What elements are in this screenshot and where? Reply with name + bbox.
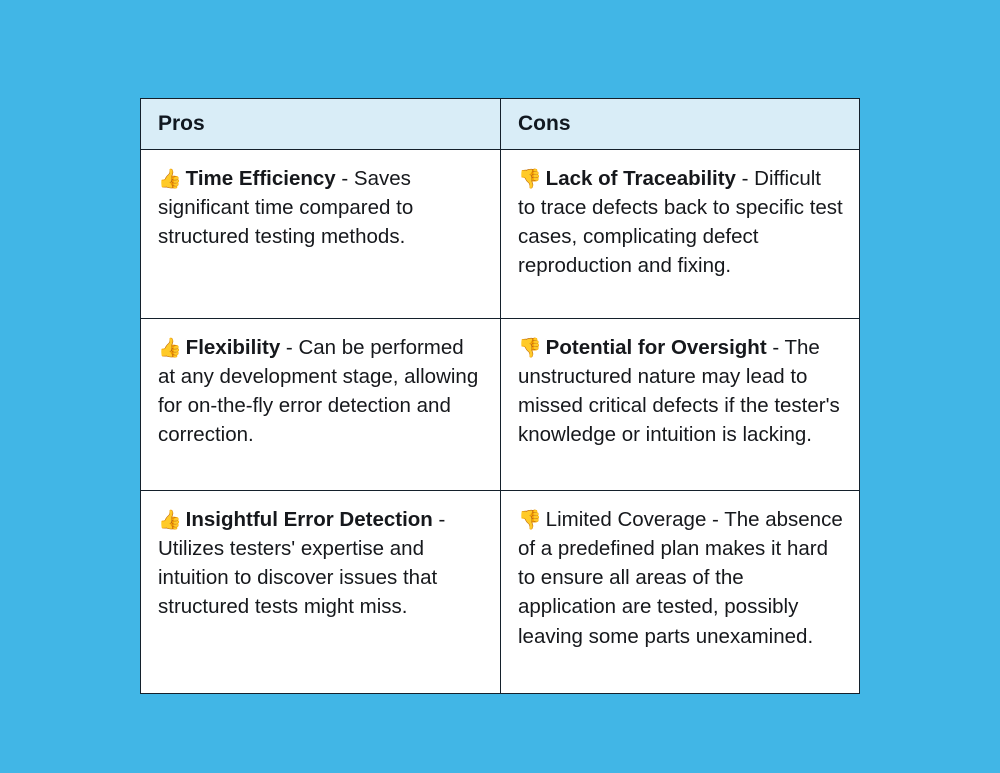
table-body: 👍Time Efficiency - Saves significant tim… (141, 150, 860, 694)
table-row: 👍Insightful Error Detection - Utilizes t… (141, 491, 860, 694)
thumbs-down-icon: 👎 (518, 168, 542, 190)
pro-title-2: Flexibility (186, 336, 281, 359)
page-root: Pros Cons 👍Time Efficiency - Saves signi… (0, 0, 1000, 773)
thumbs-down-icon: 👎 (518, 509, 542, 531)
cell-pro-2: 👍Flexibility - Can be performed at any d… (141, 319, 501, 491)
thumbs-up-icon: 👍 (158, 168, 182, 190)
con-title-3: Limited Coverage (546, 508, 707, 531)
cell-con-1: 👎Lack of Traceability - Difficult to tra… (501, 150, 860, 319)
cell-pro-3: 👍Insightful Error Detection - Utilizes t… (141, 491, 501, 694)
cell-con-3: 👎Limited Coverage - The absence of a pre… (501, 491, 860, 694)
cell-con-2: 👎Potential for Oversight - The unstructu… (501, 319, 860, 491)
header-row: Pros Cons (141, 99, 860, 150)
cell-pro-1: 👍Time Efficiency - Saves significant tim… (141, 150, 501, 319)
pro-title-1: Time Efficiency (186, 167, 336, 190)
table-header: Pros Cons (141, 99, 860, 150)
thumbs-up-icon: 👍 (158, 337, 182, 359)
pro-title-3: Insightful Error Detection (186, 508, 433, 531)
column-header-pros: Pros (141, 99, 501, 150)
thumbs-down-icon: 👎 (518, 337, 542, 359)
pros-cons-table-container: Pros Cons 👍Time Efficiency - Saves signi… (140, 98, 859, 694)
table-row: 👍Time Efficiency - Saves significant tim… (141, 150, 860, 319)
column-header-cons: Cons (501, 99, 860, 150)
table-row: 👍Flexibility - Can be performed at any d… (141, 319, 860, 491)
pros-cons-table: Pros Cons 👍Time Efficiency - Saves signi… (140, 98, 860, 694)
thumbs-up-icon: 👍 (158, 509, 182, 531)
con-title-2: Potential for Oversight (546, 336, 767, 359)
con-title-1: Lack of Traceability (546, 167, 736, 190)
